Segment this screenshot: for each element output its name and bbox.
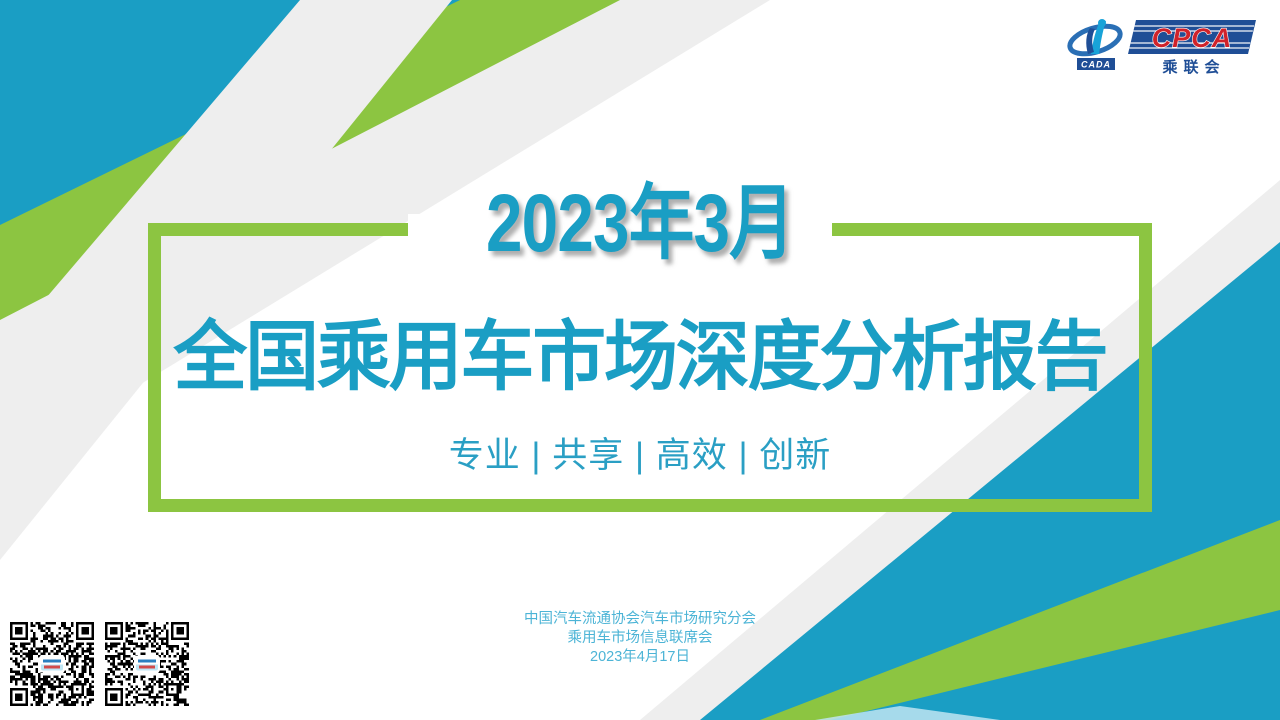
footer-line-organization: 中国汽车流通协会汽车市场研究分会 [0, 610, 1280, 629]
cpca-block-icon: CPCA [1128, 20, 1256, 54]
bg-shape-bottom-edge-pale [815, 706, 1000, 720]
cpca-abbr-text: CPCA [1152, 23, 1233, 53]
qr-code-group [10, 622, 189, 706]
qr-left-center-badge [39, 656, 65, 673]
footer-line-committee: 乘用车市场信息联席会 [0, 629, 1280, 648]
page-title: 全国乘用车市场深度分析报告 [19, 312, 1261, 404]
cpca-cn-text: 乘联会 [1161, 58, 1225, 76]
footer-line-date: 2023年4月17日 [0, 648, 1280, 667]
qr-code-left[interactable] [10, 622, 94, 706]
cpca-cada-logo: CADA CPCA 乘联会 [1066, 14, 1256, 76]
presentation-slide: 2023年3月 全国乘用车市场深度分析报告 专业 | 共享 | 高效 | 创新 … [0, 0, 1280, 720]
date-title: 2023年3月 [128, 176, 1152, 272]
tagline: 专业 | 共享 | 高效 | 创新 [0, 433, 1280, 479]
cada-abbr-text: CADA [1081, 60, 1111, 70]
cada-emblem-icon: CADA [1067, 19, 1124, 70]
qr-right-center-badge [134, 656, 160, 673]
footer-block: 中国汽车流通协会汽车市场研究分会 乘用车市场信息联席会 2023年4月17日 [0, 610, 1280, 667]
qr-code-right[interactable] [105, 622, 189, 706]
